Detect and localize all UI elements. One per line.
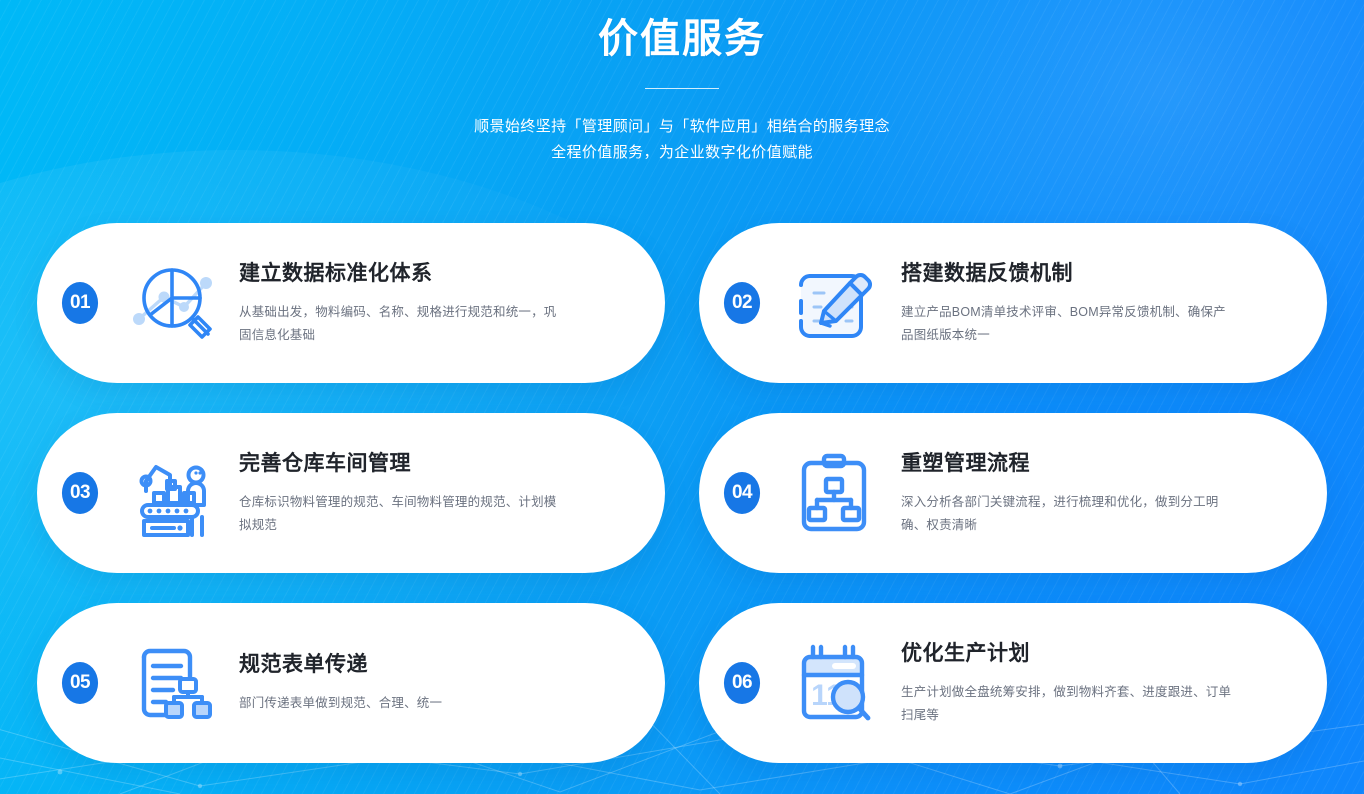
title-divider: [645, 88, 719, 89]
card-text: 规范表单传递 部门传递表单做到规范、合理、统一: [239, 651, 639, 715]
card-text: 完善仓库车间管理 仓库标识物料管理的规范、车间物料管理的规范、计划模拟规范: [239, 450, 639, 537]
card-number-badge: 01: [62, 282, 98, 324]
card-description: 部门传递表单做到规范、合理、统一: [239, 692, 569, 715]
card-text: 重塑管理流程 深入分析各部门关键流程，进行梳理和优化，做到分工明确、权责清晰: [901, 450, 1301, 537]
card-text: 建立数据标准化体系 从基础出发，物料编码、名称、规格进行规范和统一，巩固信息化基…: [239, 260, 639, 347]
page-header: 价值服务 顺景始终坚持「管理顾问」与「软件应用」相结合的服务理念 全程价值服务，…: [0, 0, 1364, 166]
page-title: 价值服务: [0, 13, 1364, 65]
card-number-badge: 03: [62, 472, 98, 514]
document-pencil-icon: [785, 254, 883, 352]
page-subtitle: 顺景始终坚持「管理顾问」与「软件应用」相结合的服务理念 全程价值服务，为企业数字…: [0, 114, 1364, 166]
card-title: 优化生产计划: [901, 640, 1301, 668]
calendar-magnifier-icon: 11: [785, 634, 883, 732]
card-number-label: 05: [70, 672, 90, 694]
subtitle-line-2: 全程价值服务，为企业数字化价值赋能: [0, 140, 1364, 166]
factory-conveyor-worker-icon: [123, 444, 221, 542]
card-number-badge: 04: [724, 472, 760, 514]
card-number-badge: 02: [724, 282, 760, 324]
card-number-label: 06: [732, 672, 752, 694]
card-title: 重塑管理流程: [901, 450, 1301, 478]
card-description: 建立产品BOM清单技术评审、BOM异常反馈机制、确保产品图纸版本统一: [901, 301, 1237, 347]
service-card[interactable]: 04 重塑管理流程 深入: [699, 413, 1327, 573]
clipboard-orgchart-icon: [785, 444, 883, 542]
card-number-label: 04: [732, 482, 752, 504]
card-number-label: 03: [70, 482, 90, 504]
card-number-label: 02: [732, 292, 752, 314]
card-description: 深入分析各部门关键流程，进行梳理和优化，做到分工明确、权责清晰: [901, 491, 1237, 537]
card-text: 优化生产计划 生产计划做全盘统筹安排，做到物料齐套、进度跟进、订单扫尾等: [901, 640, 1301, 727]
card-description: 仓库标识物料管理的规范、车间物料管理的规范、计划模拟规范: [239, 491, 569, 537]
card-title: 搭建数据反馈机制: [901, 260, 1301, 288]
service-card-grid: 01: [37, 223, 1327, 763]
card-description: 生产计划做全盘统筹安排，做到物料齐套、进度跟进、订单扫尾等: [901, 681, 1237, 727]
card-text: 搭建数据反馈机制 建立产品BOM清单技术评审、BOM异常反馈机制、确保产品图纸版…: [901, 260, 1301, 347]
card-title: 规范表单传递: [239, 651, 639, 679]
service-card[interactable]: 05: [37, 603, 665, 763]
document-flowchart-icon: [123, 634, 221, 732]
page-root: 价值服务 顺景始终坚持「管理顾问」与「软件应用」相结合的服务理念 全程价值服务，…: [0, 0, 1364, 794]
service-card[interactable]: 01: [37, 223, 665, 383]
service-card[interactable]: 06 11: [699, 603, 1327, 763]
card-number-badge: 05: [62, 662, 98, 704]
card-description: 从基础出发，物料编码、名称、规格进行规范和统一，巩固信息化基础: [239, 301, 569, 347]
card-number-badge: 06: [724, 662, 760, 704]
subtitle-line-1: 顺景始终坚持「管理顾问」与「软件应用」相结合的服务理念: [0, 114, 1364, 140]
service-card[interactable]: 03: [37, 413, 665, 573]
card-title: 建立数据标准化体系: [239, 260, 639, 288]
pie-chart-magnifier-icon: [123, 254, 221, 352]
service-card[interactable]: 02: [699, 223, 1327, 383]
card-title: 完善仓库车间管理: [239, 450, 639, 478]
card-number-label: 01: [70, 292, 90, 314]
